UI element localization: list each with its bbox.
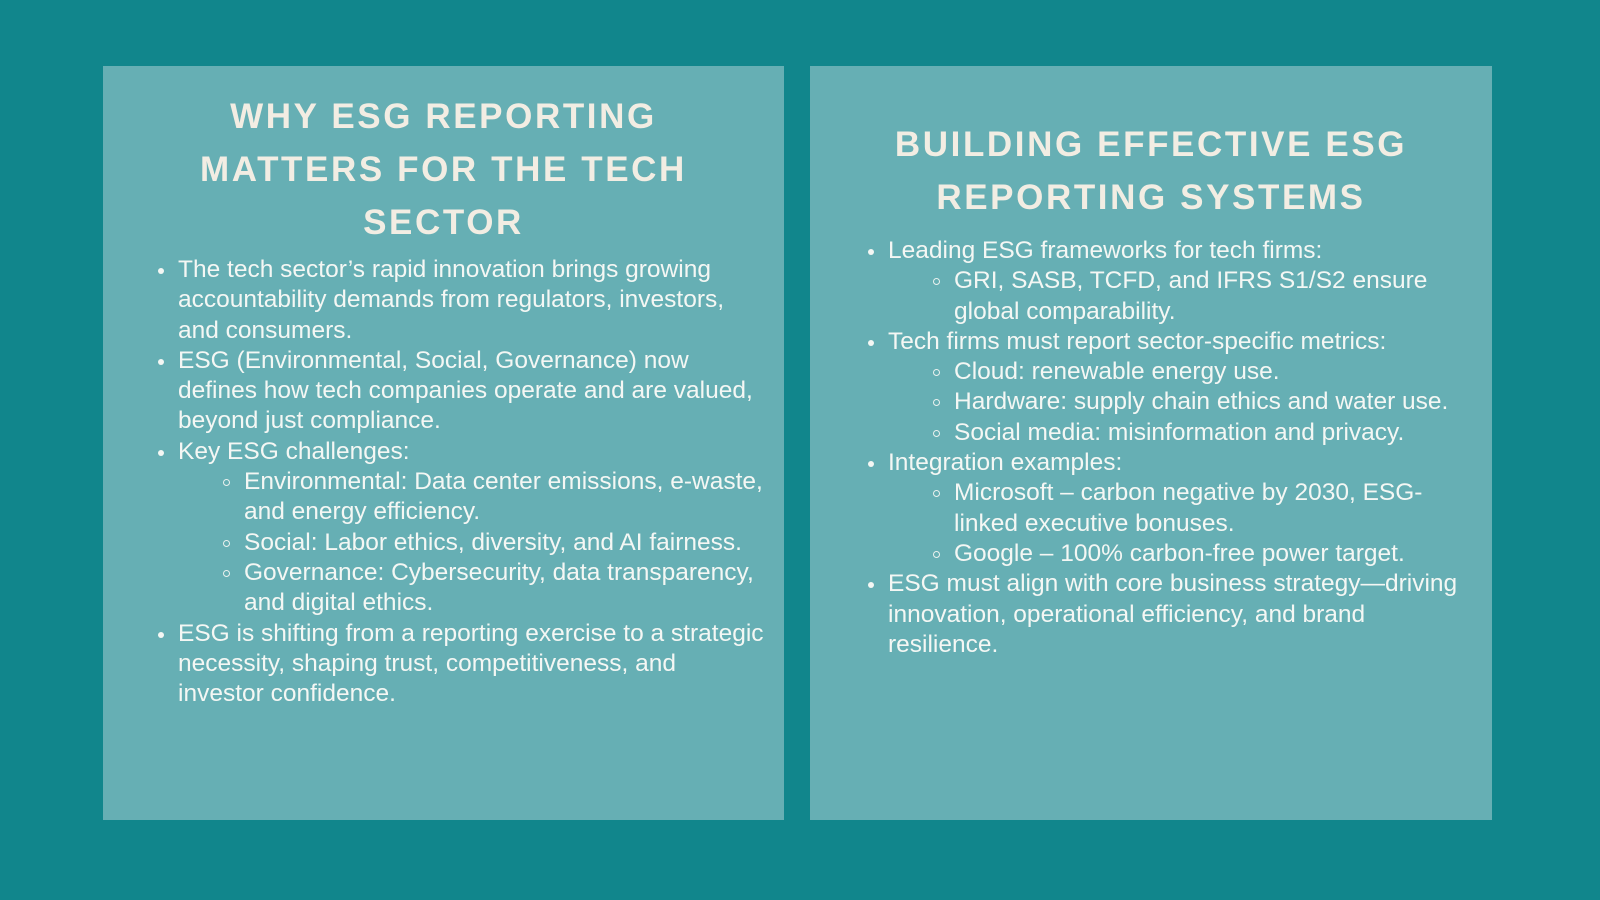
bullet-item: ESG is shifting from a reporting exercis… (156, 619, 764, 710)
bullet-item: ESG (Environmental, Social, Governance) … (156, 346, 764, 437)
bullet-item: Key ESG challenges:Environmental: Data c… (156, 437, 764, 619)
panel-building-effective-esg-reporting-systems: BUILDING EFFECTIVE ESG REPORTING SYSTEMS… (810, 66, 1492, 820)
sub-bullet-item: Social: Labor ethics, diversity, and AI … (222, 528, 764, 558)
bullet-text: Integration examples: (888, 449, 1122, 476)
sub-bullet-text: Social: Labor ethics, diversity, and AI … (244, 529, 742, 556)
slide-canvas: WHY ESG REPORTING MATTERS FOR THE TECH S… (0, 0, 1600, 900)
bullet-text: ESG (Environmental, Social, Governance) … (178, 347, 753, 435)
sub-bullet-text: Microsoft – carbon negative by 2030, ESG… (954, 479, 1422, 536)
sub-bullet-text: Google – 100% carbon-free power target. (954, 540, 1405, 567)
sub-bullet-list: Cloud: renewable energy use.Hardware: su… (888, 357, 1472, 448)
sub-bullet-list: Microsoft – carbon negative by 2030, ESG… (888, 478, 1472, 569)
sub-bullet-list: GRI, SASB, TCFD, and IFRS S1/S2 ensure g… (888, 266, 1472, 327)
panel-why-esg-reporting-matters: WHY ESG REPORTING MATTERS FOR THE TECH S… (103, 66, 784, 820)
bullet-text: The tech sector’s rapid innovation bring… (178, 256, 724, 344)
bullet-item: Leading ESG frameworks for tech firms:GR… (866, 236, 1472, 327)
bullet-list: The tech sector’s rapid innovation bring… (123, 255, 764, 709)
sub-bullet-text: Governance: Cybersecurity, data transpar… (244, 559, 754, 616)
bullet-list: Leading ESG frameworks for tech firms:GR… (830, 236, 1472, 660)
sub-bullet-item: Hardware: supply chain ethics and water … (932, 387, 1472, 417)
sub-bullet-item: Google – 100% carbon-free power target. (932, 539, 1472, 569)
bullet-item: The tech sector’s rapid innovation bring… (156, 255, 764, 346)
sub-bullet-item: Environmental: Data center emissions, e-… (222, 467, 764, 528)
sub-bullet-item: Microsoft – carbon negative by 2030, ESG… (932, 478, 1472, 539)
sub-bullet-text: Social media: misinformation and privacy… (954, 419, 1404, 446)
panel-title: WHY ESG REPORTING MATTERS FOR THE TECH S… (123, 90, 764, 249)
sub-bullet-list: Environmental: Data center emissions, e-… (178, 467, 764, 618)
bullet-item: Integration examples:Microsoft – carbon … (866, 448, 1472, 569)
panel-title: BUILDING EFFECTIVE ESG REPORTING SYSTEMS (830, 118, 1472, 224)
bullet-text: Leading ESG frameworks for tech firms: (888, 237, 1322, 264)
bullet-item: ESG must align with core business strate… (866, 569, 1472, 660)
bullet-text: ESG is shifting from a reporting exercis… (178, 620, 764, 708)
sub-bullet-item: Governance: Cybersecurity, data transpar… (222, 558, 764, 619)
sub-bullet-text: GRI, SASB, TCFD, and IFRS S1/S2 ensure g… (954, 267, 1427, 324)
sub-bullet-item: GRI, SASB, TCFD, and IFRS S1/S2 ensure g… (932, 266, 1472, 327)
bullet-item: Tech firms must report sector-specific m… (866, 327, 1472, 448)
sub-bullet-text: Hardware: supply chain ethics and water … (954, 388, 1448, 415)
sub-bullet-text: Environmental: Data center emissions, e-… (244, 468, 763, 525)
bullet-text: Key ESG challenges: (178, 438, 410, 465)
bullet-text: Tech firms must report sector-specific m… (888, 328, 1386, 355)
sub-bullet-item: Cloud: renewable energy use. (932, 357, 1472, 387)
sub-bullet-text: Cloud: renewable energy use. (954, 358, 1280, 385)
bullet-text: ESG must align with core business strate… (888, 570, 1457, 658)
sub-bullet-item: Social media: misinformation and privacy… (932, 418, 1472, 448)
